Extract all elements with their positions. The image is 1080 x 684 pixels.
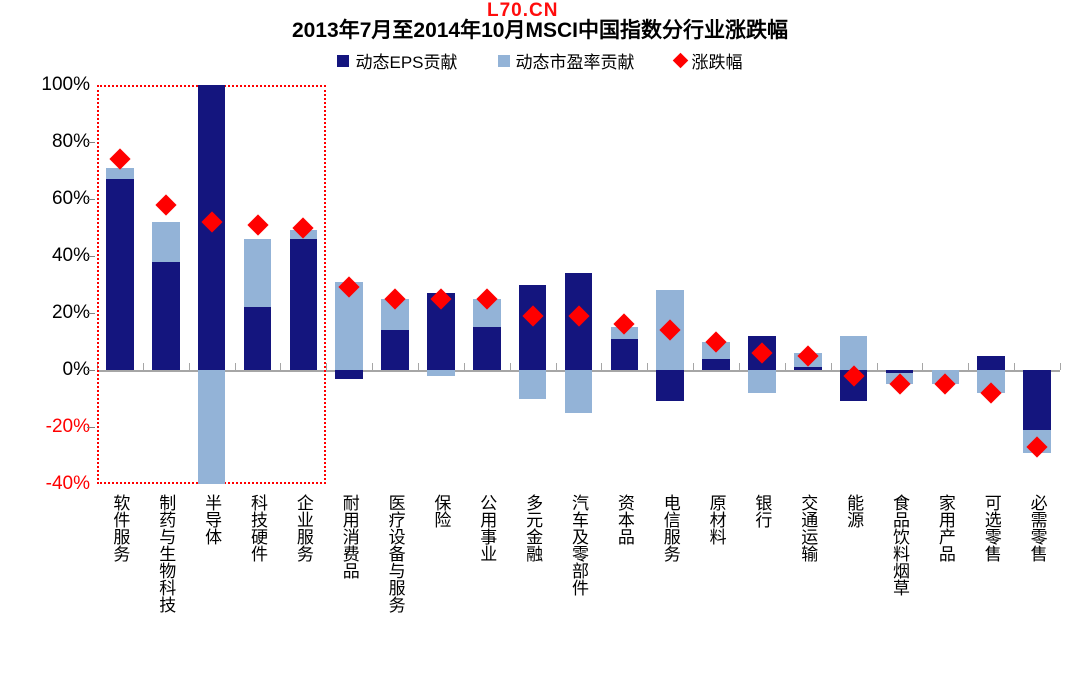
x-tick-mark (831, 363, 832, 370)
x-axis-category-labels: 软件服务制药与生物科技半导体科技硬件企业服务耐用消费品医疗设备与服务保险公用事业… (97, 494, 1060, 684)
x-tick-mark (785, 363, 786, 370)
x-axis-label-20: 必需零售 (1029, 494, 1046, 562)
x-tick-mark (693, 363, 694, 370)
y-tick-mark (87, 256, 95, 257)
bar-pe-segment (152, 222, 180, 262)
x-axis-label-19: 可选零售 (983, 494, 1000, 562)
y-axis: 100%80%60%40%20%0%-20%-40% (0, 85, 90, 484)
bar-pe-segment (748, 370, 776, 393)
bar-eps-segment (977, 356, 1005, 370)
y-tick-mark (87, 142, 95, 143)
y-tick-mark (87, 370, 95, 371)
legend-label: 动态EPS贡献 (355, 48, 457, 73)
x-axis-label-13: 原材料 (708, 494, 725, 545)
bar-eps-segment (702, 359, 730, 370)
x-axis-label-16: 能源 (845, 494, 862, 528)
y-tick-mark (87, 427, 95, 428)
bar-eps-segment (381, 330, 409, 370)
y-axis-tick-label: 40% (52, 245, 90, 267)
bar-eps-segment (794, 367, 822, 370)
bar-eps-segment (152, 262, 180, 370)
chart-container: 2013年7月至2014年10月MSCI中国指数分行业涨跌幅 L70.CN 动态… (0, 0, 1080, 684)
x-tick-mark (968, 363, 969, 370)
bar-eps-segment (519, 285, 547, 371)
legend-diamond-icon (672, 53, 688, 69)
x-axis-label-10: 汽车及零部件 (570, 494, 587, 596)
y-tick-mark (87, 313, 95, 314)
x-tick-mark (1014, 363, 1015, 370)
bar-pe-segment (198, 370, 226, 484)
x-axis-label-6: 医疗设备与服务 (387, 494, 404, 613)
y-axis-tick-label: 60% (52, 188, 90, 210)
x-axis-label-12: 电信服务 (662, 494, 679, 562)
y-axis-tick-label: 20% (52, 302, 90, 324)
bar-pe-segment (244, 239, 272, 307)
x-axis-label-2: 半导体 (203, 494, 220, 545)
legend-item-0: 动态EPS贡献 (337, 48, 457, 73)
legend-item-1: 动态市盈率贡献 (498, 48, 635, 73)
y-axis-tick-label: 100% (41, 74, 90, 96)
legend-label: 涨跌幅 (692, 48, 743, 73)
bar-eps-segment (290, 239, 318, 370)
x-axis-label-3: 科技硬件 (249, 494, 266, 562)
x-axis-label-15: 交通运输 (799, 494, 816, 562)
x-tick-mark (1060, 363, 1061, 370)
x-axis-label-9: 多元金融 (524, 494, 541, 562)
x-axis-label-7: 保险 (432, 494, 449, 528)
x-tick-mark (877, 363, 878, 370)
x-axis-label-18: 家用产品 (937, 494, 954, 562)
y-tick-mark (87, 199, 95, 200)
x-axis-label-17: 食品饮料烟草 (891, 494, 908, 596)
x-tick-mark (739, 363, 740, 370)
bar-eps-segment (335, 370, 363, 379)
x-tick-mark (464, 363, 465, 370)
bar-pe-segment (565, 370, 593, 413)
bar-pe-segment (427, 370, 455, 376)
x-axis-label-4: 企业服务 (295, 494, 312, 562)
x-axis-label-14: 银行 (753, 494, 770, 528)
watermark-text: L70.CN (487, 0, 558, 22)
bar-eps-segment (473, 327, 501, 370)
x-tick-mark (418, 363, 419, 370)
x-tick-mark (922, 363, 923, 370)
x-axis-label-11: 资本品 (616, 494, 633, 545)
x-tick-mark (601, 363, 602, 370)
y-axis-tick-label: 80% (52, 131, 90, 153)
bar-eps-segment (611, 339, 639, 370)
x-axis-label-5: 耐用消费品 (341, 494, 358, 579)
y-axis-tick-label: -20% (46, 416, 90, 438)
bar-eps-segment (244, 307, 272, 370)
legend-label: 动态市盈率贡献 (516, 48, 635, 73)
bar-eps-segment (1023, 370, 1051, 430)
bar-pe-segment (519, 370, 547, 399)
x-tick-mark (556, 363, 557, 370)
x-tick-mark (647, 363, 648, 370)
legend-swatch-icon (337, 55, 349, 67)
bar-eps-segment (656, 370, 684, 401)
x-axis-label-0: 软件服务 (111, 494, 128, 562)
bar-eps-segment (106, 179, 134, 370)
x-tick-mark (372, 363, 373, 370)
legend-swatch-icon (498, 55, 510, 67)
y-axis-tick-label: 0% (63, 359, 90, 381)
y-axis-tick-label: -40% (46, 473, 90, 495)
legend-item-2: 涨跌幅 (675, 48, 743, 73)
x-axis-label-8: 公用事业 (478, 494, 495, 562)
x-tick-mark (326, 363, 327, 370)
chart-legend: 动态EPS贡献动态市盈率贡献涨跌幅 (0, 48, 1080, 73)
x-axis-label-1: 制药与生物科技 (157, 494, 174, 613)
x-tick-mark (510, 363, 511, 370)
plot-area (97, 85, 1060, 484)
